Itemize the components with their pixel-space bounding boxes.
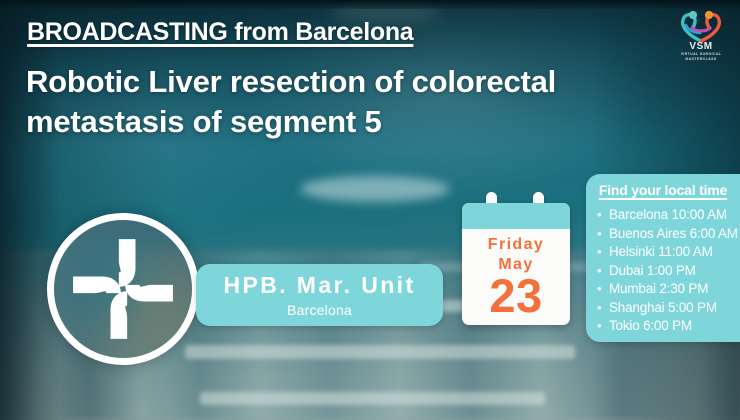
vsm-tagline: VIRTUAL SURGICAL MASTERCLASS bbox=[672, 52, 730, 63]
calendar-day-number: 23 bbox=[462, 271, 570, 320]
calendar-card: Friday May 23 bbox=[462, 203, 570, 325]
vsm-figures-icon bbox=[672, 8, 730, 42]
unit-badge-title: HPB. Mar. Unit bbox=[196, 272, 443, 299]
list-item: Dubai 1:00 PM bbox=[597, 262, 736, 281]
hospital-circular-logo bbox=[47, 213, 199, 365]
vsm-acronym: VSM bbox=[672, 41, 730, 52]
broadcast-announcement-poster: BROADCASTING from Barcelona Robotic Live… bbox=[0, 0, 740, 420]
calendar-header-bar bbox=[462, 203, 570, 229]
list-item: Buenos Aires 6:00 AM bbox=[597, 225, 736, 244]
list-item: Tokio 6:00 PM bbox=[597, 317, 736, 336]
calendar-weekday: Friday bbox=[462, 236, 570, 254]
local-times-list: Barcelona 10:00 AM Buenos Aires 6:00 AM … bbox=[597, 206, 736, 336]
unit-badge: HPB. Mar. Unit Barcelona bbox=[196, 264, 443, 326]
list-item: Mumbai 2:30 PM bbox=[597, 280, 736, 299]
unit-badge-city: Barcelona bbox=[196, 302, 443, 318]
list-item: Barcelona 10:00 AM bbox=[597, 206, 736, 225]
pinwheel-cross-icon bbox=[71, 237, 175, 341]
list-item: Helsinki 11:00 AM bbox=[597, 243, 736, 262]
page-title: Robotic Liver resection of colorectal me… bbox=[26, 62, 686, 141]
local-times-heading: Find your local time bbox=[586, 182, 740, 198]
list-item: Shanghai 5:00 PM bbox=[597, 299, 736, 318]
vsm-brand-logo: VSM VIRTUAL SURGICAL MASTERCLASS bbox=[672, 8, 730, 64]
header-block: BROADCASTING from Barcelona Robotic Live… bbox=[0, 0, 740, 162]
broadcast-kicker: BROADCASTING from Barcelona bbox=[27, 18, 413, 47]
local-times-panel: Find your local time Barcelona 10:00 AM … bbox=[586, 174, 740, 342]
